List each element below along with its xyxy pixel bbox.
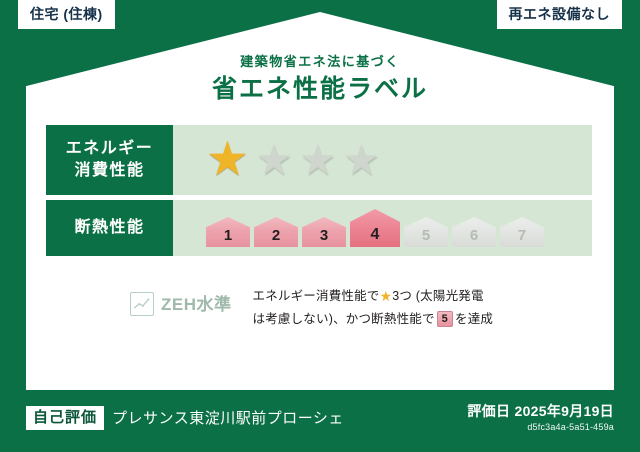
zeh-desc-line2-pre: は考慮しない)、かつ断熱性能で bbox=[253, 312, 435, 326]
energy-performance-label: エネルギー 消費性能 bbox=[46, 125, 173, 195]
footer: 自己評価 プレサンス東淀川駅前プローシェ 評価日 2025年9月19日 d5fc… bbox=[0, 390, 640, 452]
star-empty-icon-3: ★ bbox=[299, 139, 337, 181]
insulation-performance-label-line1: 断熱性能 bbox=[74, 217, 144, 239]
building-type-tag: 住宅 (住棟) bbox=[18, 0, 115, 29]
insulation-level-5: 5 bbox=[404, 217, 448, 247]
insulation-level-7-value: 7 bbox=[500, 217, 544, 247]
zeh-desc-line2-post: を達成 bbox=[455, 312, 493, 326]
insulation-level-2: 2 bbox=[254, 217, 298, 247]
self-evaluation-badge: 自己評価 bbox=[26, 406, 104, 430]
insulation-level-1-value: 1 bbox=[206, 217, 250, 247]
insulation-level-3: 3 bbox=[302, 217, 346, 247]
renewable-energy-tag: 再エネ設備なし bbox=[497, 0, 623, 29]
star-empty-icon-4: ★ bbox=[342, 139, 380, 181]
inline-star-icon: ★ bbox=[380, 288, 393, 304]
insulation-level-scale: 1 2 3 4 5 6 bbox=[206, 209, 544, 247]
insulation-scale-wrapper: 1 2 3 4 5 6 bbox=[173, 200, 592, 256]
zeh-mark-label: ZEH水準 bbox=[161, 296, 232, 313]
heading-subtitle: 建築物省エネ法に基づく bbox=[26, 55, 614, 68]
evaluation-date: 評価日 2025年9月19日 bbox=[467, 404, 614, 419]
insulation-level-5-value: 5 bbox=[404, 217, 448, 247]
zeh-description: エネルギー消費性能で★3つ (太陽光発電 は考慮しない)、かつ断熱性能で5を達成 bbox=[253, 284, 494, 330]
footer-right: 評価日 2025年9月19日 d5fc3a4a-5a51-459a bbox=[467, 404, 614, 432]
evaluation-date-value: 2025年9月19日 bbox=[514, 403, 614, 419]
star-filled-icon-1: ★ bbox=[206, 136, 249, 184]
energy-performance-row: エネルギー 消費性能 ★ ★ ★ ★ bbox=[46, 125, 592, 195]
page-title: 省エネ性能ラベル bbox=[26, 77, 614, 102]
energy-performance-label-line1: エネルギー bbox=[66, 138, 154, 160]
star-rating: ★ ★ ★ ★ bbox=[173, 125, 592, 195]
building-name: プレサンス東淀川駅前プローシェ bbox=[112, 411, 344, 426]
insulation-performance-label: 断熱性能 bbox=[46, 200, 173, 256]
insulation-level-7: 7 bbox=[500, 217, 544, 247]
evaluation-date-label: 評価日 bbox=[467, 403, 510, 419]
insulation-performance-row: 断熱性能 1 2 3 4 5 bbox=[46, 200, 592, 256]
insulation-level-1: 1 bbox=[206, 217, 250, 247]
heading-block: 建築物省エネ法に基づく 省エネ性能ラベル bbox=[26, 55, 614, 102]
zeh-description-line2: は考慮しない)、かつ断熱性能で5を達成 bbox=[253, 309, 494, 331]
zeh-chart-icon bbox=[130, 292, 154, 316]
footer-left: 自己評価 プレサンス東淀川駅前プローシェ bbox=[26, 406, 344, 430]
insulation-level-6-value: 6 bbox=[452, 217, 496, 247]
zeh-desc-line1-post: 3つ (太陽光発電 bbox=[392, 289, 483, 303]
panel-content: 建築物省エネ法に基づく 省エネ性能ラベル エネルギー 消費性能 ★ ★ ★ ★ … bbox=[26, 12, 614, 390]
insulation-level-4-achieved: 4 bbox=[350, 209, 400, 247]
inline-insulation-chip: 5 bbox=[437, 311, 453, 327]
zeh-description-line1: エネルギー消費性能で★3つ (太陽光発電 bbox=[253, 284, 494, 309]
energy-performance-label: 住宅 (住棟) 再エネ設備なし 建築物省エネ法に基づく 省エネ性能ラベル エネル… bbox=[0, 0, 640, 452]
star-empty-icon-2: ★ bbox=[255, 139, 293, 181]
insulation-level-6: 6 bbox=[452, 217, 496, 247]
insulation-level-2-value: 2 bbox=[254, 217, 298, 247]
zeh-mark: ZEH水準 bbox=[130, 284, 232, 316]
zeh-desc-line1-pre: エネルギー消費性能で bbox=[253, 289, 380, 303]
label-id: d5fc3a4a-5a51-459a bbox=[467, 423, 614, 432]
insulation-level-4-value: 4 bbox=[350, 209, 400, 247]
energy-performance-label-line2: 消費性能 bbox=[74, 160, 144, 182]
insulation-level-3-value: 3 bbox=[302, 217, 346, 247]
zeh-standard-block: ZEH水準 エネルギー消費性能で★3つ (太陽光発電 は考慮しない)、かつ断熱性… bbox=[26, 284, 614, 330]
